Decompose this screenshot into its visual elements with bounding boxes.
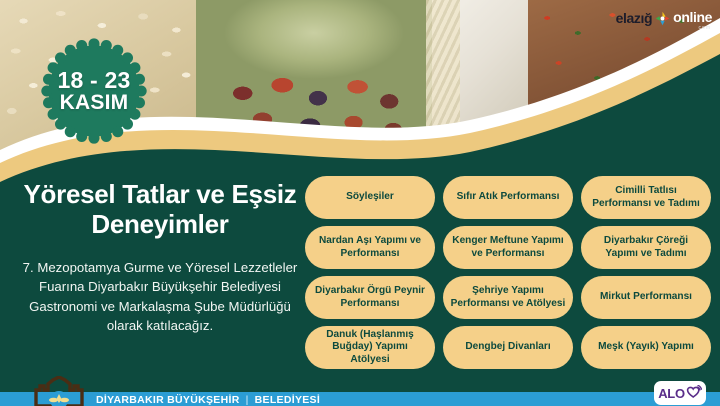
list-item[interactable]: Diyarbakır Çöreği Yapımı ve Tadımı — [581, 226, 711, 269]
footer-line-2: BELEDİYESİ — [255, 394, 320, 406]
logo-text-com: com — [699, 25, 711, 31]
date-month: KASIM — [60, 92, 129, 113]
list-item[interactable]: Mirkut Performansı — [581, 276, 711, 319]
activity-list: Söyleşiler Sıfır Atık Performansı Cimill… — [305, 176, 711, 369]
colorful-splash-icon — [655, 11, 670, 26]
list-item[interactable]: Kenger Meftune Yapımı ve Performansı — [443, 226, 573, 269]
list-item[interactable]: Cimilli Tatlısı Performansı ve Tadımı — [581, 176, 711, 219]
page-title: Yöresel Tatlar ve Eşsiz Deneyimler — [18, 180, 302, 239]
list-item[interactable]: Şehriye Yapımı Performansı ve Atölyesi — [443, 276, 573, 319]
list-item[interactable]: Nardan Aşı Yapımı ve Performansı — [305, 226, 435, 269]
heart-signal-icon — [686, 385, 702, 401]
list-item[interactable]: Söyleşiler — [305, 176, 435, 219]
poster-root: 18 - 23 KASIM elazığ online com Yöresel … — [0, 0, 720, 406]
footer-line-1: DİYARBAKIR BÜYÜKŞEHİR — [96, 394, 240, 406]
list-item[interactable]: Meşk (Yayık) Yapımı — [581, 326, 711, 369]
date-badge-label: 18 - 23 KASIM — [41, 38, 147, 144]
logo-text-elazig: elazığ — [616, 10, 653, 26]
alo-badge[interactable]: ALO — [654, 381, 706, 405]
date-badge: 18 - 23 KASIM — [41, 38, 147, 144]
page-subtitle: 7. Mezopotamya Gurme ve Yöresel Lezzetle… — [16, 258, 304, 336]
list-item[interactable]: Danuk (Haşlanmış Buğday) Yapımı Atölyesi — [305, 326, 435, 369]
elazig-online-logo[interactable]: elazığ online com — [616, 8, 712, 28]
footer-separator: | — [246, 394, 249, 406]
list-item[interactable]: Diyarbakır Örgü Peynir Performansı — [305, 276, 435, 319]
list-item[interactable]: Sıfır Atık Performansı — [443, 176, 573, 219]
list-item[interactable]: Dengbej Divanları — [443, 326, 573, 369]
diyarbakir-municipality-crest-icon — [30, 376, 88, 406]
logo-text-online: online — [673, 9, 712, 25]
alo-label: ALO — [658, 386, 685, 401]
date-range: 18 - 23 — [57, 69, 130, 92]
footer-text: DİYARBAKIR BÜYÜKŞEHİR | BELEDİYESİ — [96, 393, 320, 406]
